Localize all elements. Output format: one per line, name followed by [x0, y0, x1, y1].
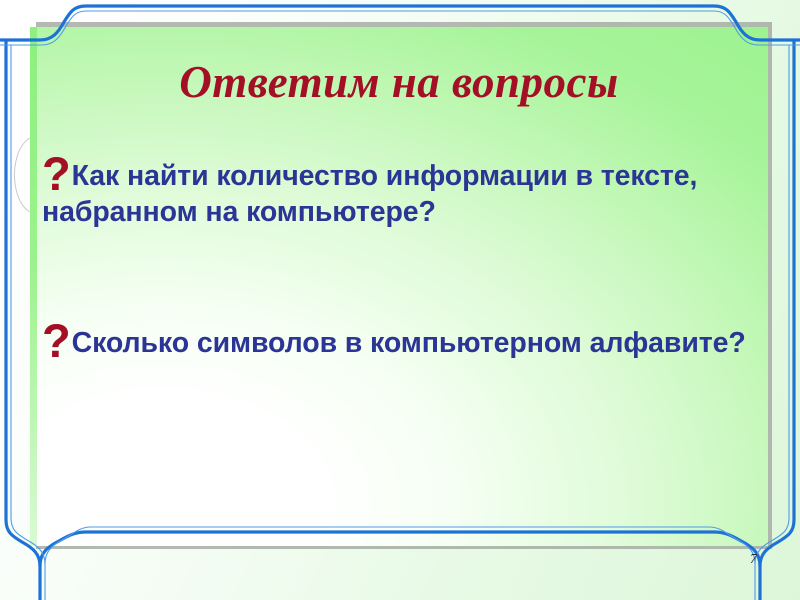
slide-number: 7 — [750, 552, 757, 568]
question-item-2: ?Сколько символов в компьютерном алфавит… — [42, 325, 754, 361]
content-panel: Ответим на вопросы ?Как найти количество… — [30, 27, 768, 546]
slide-canvas: Ответим на вопросы ?Как найти количество… — [0, 0, 800, 600]
question-text-1: Как найти количество информации в тексте… — [42, 160, 697, 228]
question-item-1: ?Как найти количество информации в текст… — [42, 158, 754, 231]
page-title: Ответим на вопросы — [30, 59, 768, 106]
question-text-2: Сколько символов в компьютерном алфавите… — [72, 327, 746, 359]
question-mark-icon: ? — [42, 147, 71, 200]
question-mark-icon: ? — [42, 314, 71, 367]
